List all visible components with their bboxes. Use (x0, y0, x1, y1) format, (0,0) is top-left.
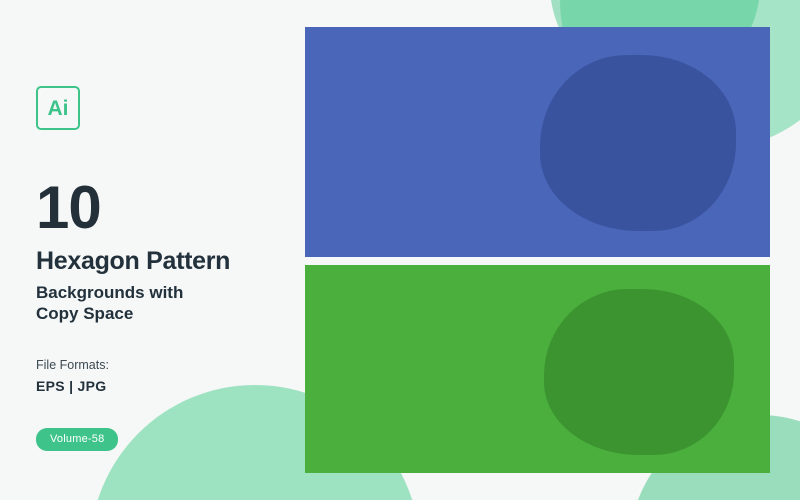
page-subtitle: Backgrounds with Copy Space (36, 282, 296, 325)
adobe-illustrator-icon: Ai (36, 86, 80, 130)
page-title: Hexagon Pattern (36, 248, 296, 276)
green-hexagon-preview (305, 265, 770, 473)
poster-canvas: Ai 10 Hexagon Pattern Backgrounds with C… (0, 0, 800, 500)
green-hexagon-dot-pattern (305, 265, 770, 473)
file-formats-value: EPS | JPG (36, 378, 296, 394)
blue-hexagon-preview (305, 27, 770, 257)
info-panel: Ai 10 Hexagon Pattern Backgrounds with C… (36, 86, 296, 451)
adobe-illustrator-icon-label: Ai (48, 98, 69, 119)
page-subtitle-line-1: Backgrounds with (36, 282, 296, 303)
volume-badge: Volume-58 (36, 428, 118, 451)
item-count: 10 (36, 178, 296, 238)
file-formats-label: File Formats: (36, 358, 296, 372)
page-subtitle-line-2: Copy Space (36, 303, 296, 324)
blue-hexagon-dot-pattern (305, 27, 770, 257)
